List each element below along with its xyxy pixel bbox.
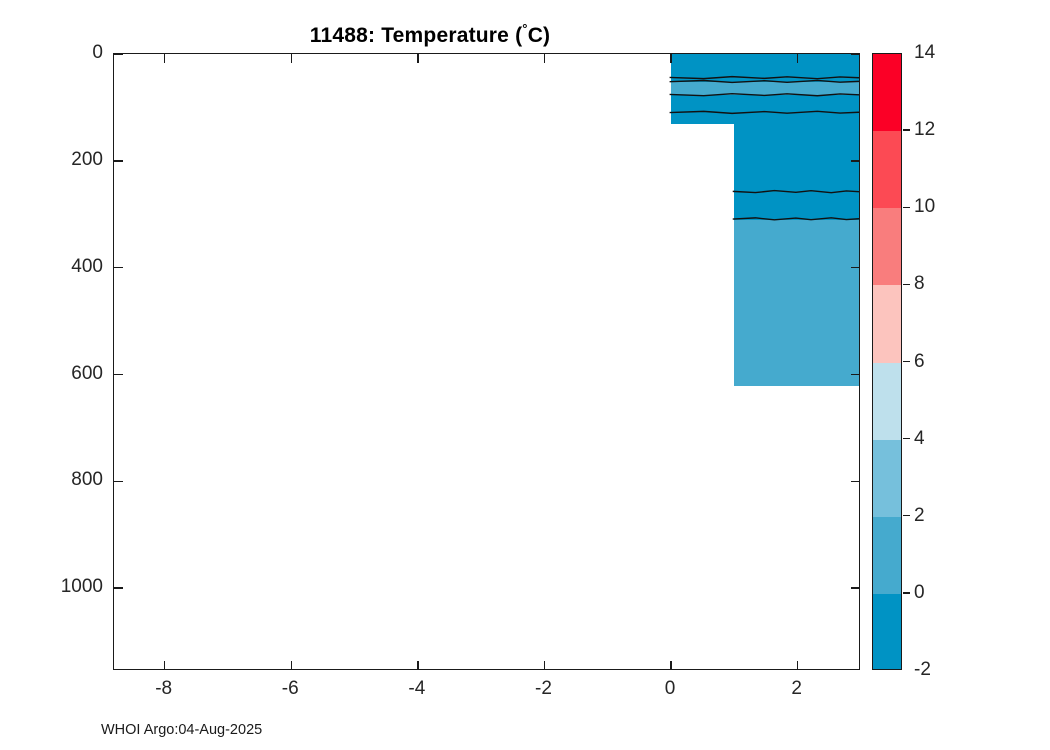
colorbar-band <box>873 208 901 286</box>
colorbar-tick-label: 14 <box>914 42 935 64</box>
page-title: 11488: Temperature (°C) <box>0 22 860 48</box>
colorbar-band <box>873 517 901 595</box>
y-tick-label: 1000 <box>61 576 103 598</box>
x-tick <box>291 54 292 63</box>
x-tick <box>417 54 418 63</box>
y-tick-label: 0 <box>92 42 103 64</box>
y-tick <box>851 587 860 588</box>
x-tick-label: -8 <box>155 678 172 700</box>
colorbar-tick <box>903 361 910 362</box>
y-tick <box>851 374 860 375</box>
colorbar-tick-label: 12 <box>914 119 935 141</box>
x-tick-label: -6 <box>282 678 299 700</box>
colorbar-tick-label: 2 <box>914 505 925 527</box>
y-tick <box>114 267 123 268</box>
contour-line <box>670 94 859 96</box>
colorbar-tick-label: 8 <box>914 273 925 295</box>
contour-line <box>670 111 859 113</box>
x-tick-label: -2 <box>535 678 552 700</box>
y-tick-label: 800 <box>71 469 103 491</box>
colorbar-tick <box>903 284 910 285</box>
contour-line <box>733 218 859 220</box>
plot-area[interactable] <box>113 53 860 670</box>
y-tick <box>114 374 123 375</box>
y-tick <box>851 481 860 482</box>
y-tick <box>851 267 860 268</box>
contour-line <box>670 77 859 79</box>
x-tick <box>417 661 418 670</box>
title-main: 11488: Temperature ( <box>310 24 523 47</box>
colorbar-tick <box>903 129 910 130</box>
colorbar-band <box>873 131 901 209</box>
x-tick <box>797 661 798 670</box>
colorbar-tick <box>903 438 910 439</box>
contour-lines <box>114 54 859 669</box>
y-tick-label: 600 <box>71 363 103 385</box>
colorbar-tick-label: 0 <box>914 582 925 604</box>
y-tick-label: 200 <box>71 149 103 171</box>
colorbar-tick-label: -2 <box>914 659 931 681</box>
colorbar[interactable] <box>872 53 902 670</box>
colorbar-band <box>873 363 901 441</box>
colorbar-band <box>873 440 901 518</box>
x-tick-label: -4 <box>408 678 425 700</box>
heatmap-data-layer <box>114 54 859 669</box>
colorbar-band <box>873 594 901 670</box>
x-tick <box>544 661 545 670</box>
title-suffix: C) <box>528 24 551 47</box>
y-tick <box>851 160 860 161</box>
x-tick <box>164 661 165 670</box>
degree-symbol: ° <box>522 21 527 36</box>
y-tick <box>851 53 860 54</box>
x-tick <box>164 54 165 63</box>
x-tick <box>670 661 671 670</box>
colorbar-tick-label: 10 <box>914 196 935 218</box>
colorbar-tick <box>903 515 910 516</box>
x-tick <box>797 54 798 63</box>
x-tick <box>291 661 292 670</box>
contour-line <box>733 191 859 193</box>
y-tick <box>114 587 123 588</box>
x-tick <box>544 54 545 63</box>
figure-root: 11488: Temperature (°C) 0200400600800100… <box>0 0 1050 750</box>
x-tick-label: 0 <box>665 678 676 700</box>
footer-credit: WHOI Argo:04-Aug-2025 <box>101 722 262 738</box>
y-tick-label: 400 <box>71 256 103 278</box>
colorbar-tick <box>903 592 910 593</box>
colorbar-tick-label: 4 <box>914 428 925 450</box>
colorbar-tick-label: 6 <box>914 351 925 373</box>
x-tick-label: 2 <box>791 678 802 700</box>
x-tick <box>670 54 671 63</box>
colorbar-tick <box>903 207 910 208</box>
y-tick <box>114 53 123 54</box>
contour-line <box>670 80 859 82</box>
y-tick <box>114 481 123 482</box>
colorbar-band <box>873 285 901 363</box>
colorbar-band <box>873 54 901 132</box>
y-tick <box>114 160 123 161</box>
